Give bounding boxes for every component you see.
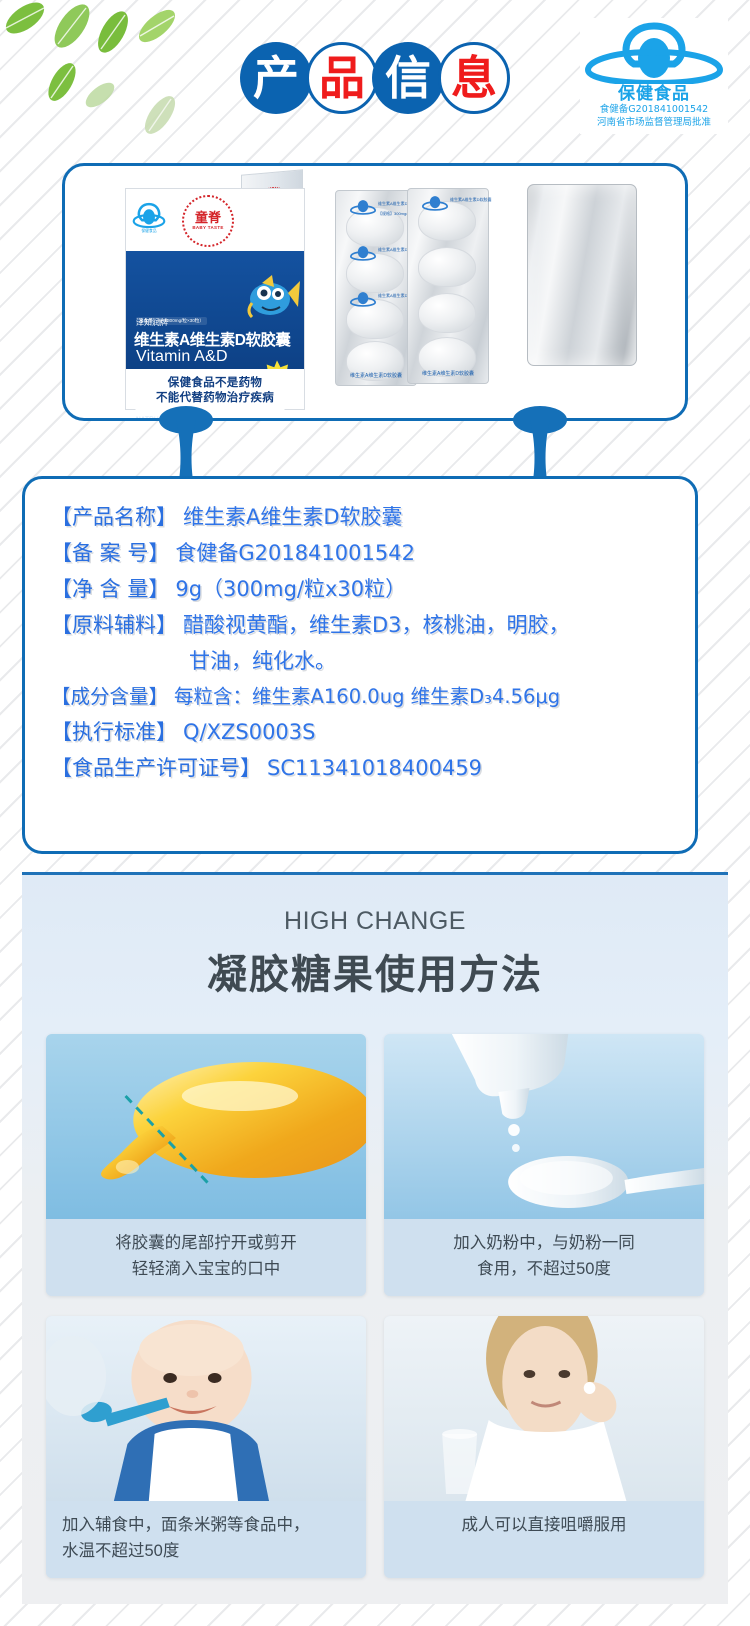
usage-section-title: 凝胶糖果使用方法 — [22, 942, 728, 1000]
blue-hat-mini-icon: 保健食品 — [132, 199, 166, 233]
health-food-certification-badge: 保健食品 食健备G201841001542 河南省市场监督管理局批准 — [580, 18, 728, 134]
info-value: 维生素A维生素D软胶囊 — [183, 507, 403, 528]
usage-card-caption: 加入奶粉中，与奶粉一同 食用，不超过50度 — [384, 1219, 704, 1296]
usage-card-caption: 加入辅食中，面条米粥等食品中， 水温不超过50度 — [46, 1501, 366, 1578]
info-row-product-name: 【产品名称】 维生素A维生素D软胶囊 — [51, 507, 669, 528]
golden-capsule-image — [46, 1034, 366, 1219]
product-info-page: 产 品 信 息 保健食品 食健备G201841001542 河南省市场监督管理局… — [0, 0, 750, 1626]
info-row-standard: 【执行标准】 Q/XZS0003S — [51, 722, 669, 743]
svg-text:保健食品: 保健食品 — [141, 228, 156, 233]
title-char-2: 品 — [306, 42, 378, 114]
blister-pack: 维生素A维生素D软胶囊 维生素A维生素D软胶囊 — [407, 188, 489, 384]
info-value: 醋酸视黄酯，维生素D3，核桃油，明胶， — [183, 615, 570, 636]
blister-footer: 维生素A维生素D软胶囊 — [336, 372, 416, 379]
info-row-net-content: 【净 含 量】 9g（300mg/粒x30粒） — [51, 579, 669, 600]
info-value: 9g（300mg/粒x30粒） — [175, 579, 406, 600]
usage-card-caption: 成人可以直接咀嚼服用 — [384, 1501, 704, 1553]
info-key: 【原料辅料】 — [51, 615, 177, 636]
info-value: 食健备G201841001542 — [175, 543, 415, 564]
info-key: 【食品生产许可证号】 — [51, 758, 261, 779]
usage-card: 加入奶粉中，与奶粉一同 食用，不超过50度 — [384, 1034, 704, 1296]
blister-packs: 维生素A维生素D软胶囊 【规格】300mg/粒 维生素A维生素D软胶囊 维生素A… — [335, 188, 513, 388]
carton-warning: 保健食品不是药物 不能代替药物治疗疾病 — [126, 376, 304, 405]
blister-product-name: 维生素A维生素D软胶囊 — [450, 197, 492, 203]
blister-hat-icon — [422, 195, 448, 211]
usage-section-subtitle: HIGH CHANGE — [22, 875, 728, 936]
blister-pack: 维生素A维生素D软胶囊 【规格】300mg/粒 维生素A维生素D软胶囊 维生素A… — [335, 190, 417, 386]
blister-hat-icon — [350, 245, 376, 261]
blister-hat-icon — [350, 291, 376, 307]
info-key: 【产品名称】 — [51, 507, 177, 528]
foil-sachet — [527, 184, 637, 366]
usage-section: HIGH CHANGE 凝胶糖果使用方法 — [22, 872, 728, 1604]
blue-hat-icon — [582, 22, 726, 84]
info-row-ingredients-cont: 甘油，纯化水。 — [189, 651, 669, 672]
info-key: 【执行标准】 — [51, 722, 177, 743]
woman-taking-capsule-image — [384, 1316, 704, 1501]
carton-product-name: 维生素A维生素D软胶囊 — [134, 328, 290, 350]
info-row-production-license: 【食品生产许可证号】 SC11341018400459 — [51, 758, 669, 779]
baby-taste-logo: 童脊 BABY TASTE — [182, 195, 234, 247]
carton-net-content: 净含量：9g（300mg/粒×30粒） — [136, 317, 207, 325]
usage-card: 将胶囊的尾部拧开或剪开 轻轻滴入宝宝的口中 — [46, 1034, 366, 1296]
blister-footer: 维生素A维生素D软胶囊 — [408, 370, 488, 377]
product-carton-front: 保健食品 童脊 BABY TASTE 泽知润牌 维生素A维生素D软胶囊 Vita… — [125, 188, 305, 410]
title-char-4: 息 — [438, 42, 510, 114]
product-photo-panel: 童脊 BABY TASTE — [62, 163, 688, 421]
info-key: 【净 含 量】 — [51, 579, 169, 600]
info-key: 【备 案 号】 — [51, 543, 169, 564]
cert-title: 保健食品 — [582, 85, 726, 104]
info-key: 【成分含量】 — [51, 687, 168, 707]
page-header: 产 品 信 息 保健食品 食健备G201841001542 河南省市场监督管理局… — [0, 0, 750, 152]
title-char-3: 信 — [372, 42, 444, 114]
cert-authority: 河南省市场监督管理局批准 — [582, 117, 726, 130]
product-info-panel: 【产品名称】 维生素A维生素D软胶囊 【备 案 号】 食健备G201841001… — [22, 476, 698, 854]
usage-card: 成人可以直接咀嚼服用 — [384, 1316, 704, 1578]
info-row-record-number: 【备 案 号】 食健备G201841001542 — [51, 543, 669, 564]
carton-product-name-en: Vitamin A&D — [136, 348, 228, 366]
cert-record-number: 食健备G201841001542 — [582, 104, 726, 117]
usage-card: 加入辅食中，面条米粥等食品中， 水温不超过50度 — [46, 1316, 366, 1578]
baby-eating-with-spoon-image — [46, 1316, 366, 1501]
usage-card-caption: 将胶囊的尾部拧开或剪开 轻轻滴入宝宝的口中 — [46, 1219, 366, 1296]
info-row-composition: 【成分含量】 每粒含：维生素A160.0ug 维生素D₃4.56μg — [51, 687, 669, 707]
cartoon-fish-icon — [240, 263, 300, 325]
title-char-1: 产 — [240, 42, 312, 114]
usage-card-grid: 将胶囊的尾部拧开或剪开 轻轻滴入宝宝的口中 — [22, 1000, 728, 1578]
bottle-dripping-onto-spoon-image — [384, 1034, 704, 1219]
info-value: 每粒含：维生素A160.0ug 维生素D₃4.56μg — [174, 687, 560, 707]
info-row-ingredients: 【原料辅料】 醋酸视黄酯，维生素D3，核桃油，明胶， — [51, 615, 669, 636]
info-value: Q/XZS0003S — [183, 722, 315, 743]
blister-hat-icon — [350, 199, 376, 215]
info-value: SC11341018400459 — [267, 758, 482, 779]
